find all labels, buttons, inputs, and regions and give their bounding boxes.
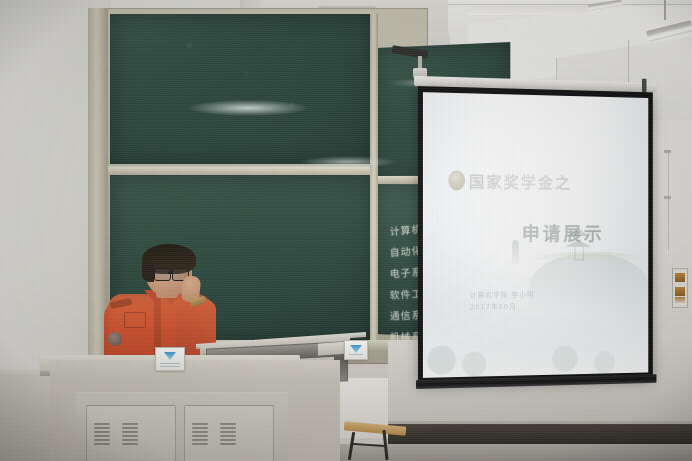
slide-foliage	[423, 317, 648, 378]
blackboard-mullion	[370, 14, 378, 344]
name-card-front	[155, 347, 185, 371]
floor	[340, 444, 692, 461]
notice-band	[675, 287, 685, 296]
notice-band	[675, 273, 685, 282]
notice-band	[675, 297, 685, 303]
vent-louver-icon	[122, 423, 138, 445]
lectern-front-panel	[76, 392, 288, 461]
slide-meta-date: 2017年10月	[470, 301, 534, 314]
baseboard	[388, 424, 692, 446]
classroom-photo-scene: 计算机 刘洋 自动化 张伟 电子系 王磊 软件工程 陈思 通信系 李雪 机械系 …	[0, 0, 692, 461]
name-card-side	[344, 340, 368, 360]
slide-meta: 计算机学院 李小明 2017年10月	[470, 289, 534, 313]
wall-notice-poster	[672, 268, 688, 308]
blackboard-divider	[108, 166, 376, 175]
screen-surface: 国家奖学金之 申请展示 计算机学院 李小明 2017年10月	[423, 92, 648, 378]
slide-meta-presenter: 计算机学院 李小明	[470, 289, 534, 301]
hair-side	[142, 258, 154, 282]
ceiling-light-far	[466, 6, 591, 15]
vent-louver-icon	[220, 423, 236, 445]
vent-louver-icon	[94, 423, 110, 445]
slide-hill-graphic	[529, 253, 648, 308]
vent-louver-icon	[192, 423, 208, 445]
slide-title-main: 国家奖学金之	[469, 169, 572, 194]
wall-cable	[668, 150, 669, 250]
pull-down-projection-screen[interactable]: 国家奖学金之 申请展示 计算机学院 李小明 2017年10月	[418, 86, 666, 396]
glasses-bridge	[168, 272, 173, 274]
glasses-lens	[154, 268, 171, 281]
blackboard-panel	[110, 14, 372, 164]
blue-triangle-logo-icon	[350, 345, 362, 353]
scholarship-emblem-icon	[448, 170, 465, 190]
slide-title-sub: 申请展示	[522, 219, 605, 246]
light-stem	[664, 0, 666, 20]
blue-triangle-logo-icon	[164, 352, 176, 360]
slide-tree-graphic	[512, 240, 519, 266]
screen-mount-hook	[642, 79, 647, 93]
shirt-pocket	[124, 312, 146, 328]
presentation-slide: 国家奖学金之 申请展示 计算机学院 李小明 2017年10月	[423, 92, 648, 378]
shirt-badge	[108, 332, 122, 346]
